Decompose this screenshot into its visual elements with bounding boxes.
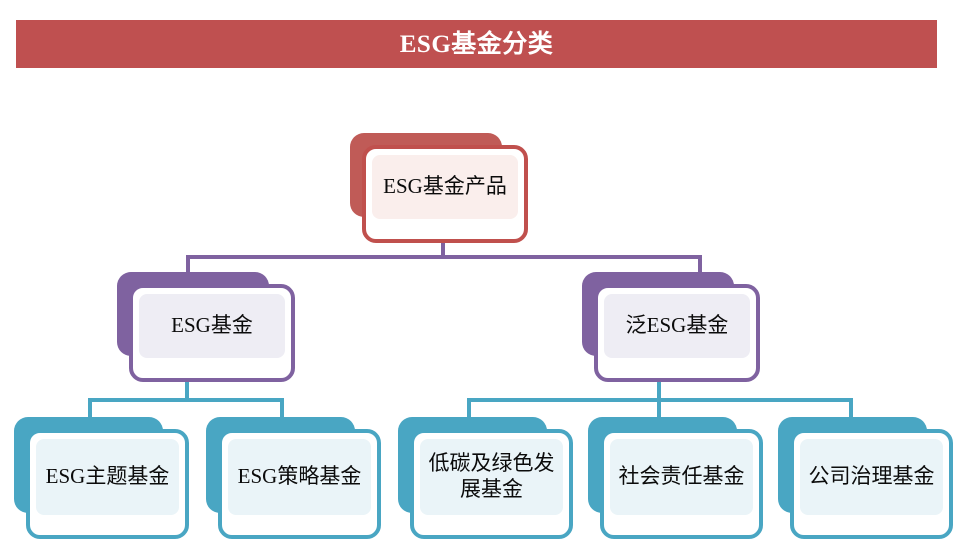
node-esg-fund[interactable]: ESG基金 bbox=[117, 272, 295, 382]
node-card: ESG基金产品 bbox=[362, 145, 528, 243]
node-label: ESG基金产品 bbox=[377, 174, 513, 200]
node-label: ESG基金 bbox=[165, 313, 259, 339]
node-broad-esg-fund[interactable]: 泛ESG基金 bbox=[582, 272, 760, 382]
node-label: 低碳及绿色发展基金 bbox=[420, 451, 563, 502]
page-title-banner: ESG基金分类 bbox=[16, 20, 937, 68]
node-label: 泛ESG基金 bbox=[620, 313, 735, 339]
page-title: ESG基金分类 bbox=[400, 32, 554, 57]
node-inner: ESG基金产品 bbox=[372, 155, 518, 219]
node-card: 公司治理基金 bbox=[790, 429, 953, 539]
node-card: 低碳及绿色发展基金 bbox=[410, 429, 573, 539]
connector-left-branch-bar bbox=[88, 398, 284, 402]
node-low-carbon-green-development-fund[interactable]: 低碳及绿色发展基金 bbox=[398, 417, 573, 539]
node-card: 社会责任基金 bbox=[600, 429, 763, 539]
node-inner: 公司治理基金 bbox=[800, 439, 943, 515]
node-social-responsibility-fund[interactable]: 社会责任基金 bbox=[588, 417, 763, 539]
node-card: ESG基金 bbox=[129, 284, 295, 382]
node-inner: 低碳及绿色发展基金 bbox=[420, 439, 563, 515]
node-inner: 社会责任基金 bbox=[610, 439, 753, 515]
node-label: ESG主题基金 bbox=[40, 464, 176, 490]
connector-level2-bar bbox=[186, 255, 702, 259]
node-inner: ESG主题基金 bbox=[36, 439, 179, 515]
node-inner: ESG策略基金 bbox=[228, 439, 371, 515]
node-card: 泛ESG基金 bbox=[594, 284, 760, 382]
node-label: ESG策略基金 bbox=[232, 464, 368, 490]
node-label: 公司治理基金 bbox=[803, 464, 941, 490]
node-inner: 泛ESG基金 bbox=[604, 294, 750, 358]
node-card: ESG主题基金 bbox=[26, 429, 189, 539]
node-card: ESG策略基金 bbox=[218, 429, 381, 539]
node-esg-theme-fund[interactable]: ESG主题基金 bbox=[14, 417, 189, 539]
node-label: 社会责任基金 bbox=[613, 464, 751, 490]
node-esg-strategy-fund[interactable]: ESG策略基金 bbox=[206, 417, 381, 539]
diagram-canvas: ESG基金分类 ESG基金产品 ESG基金 bbox=[0, 0, 953, 548]
node-esg-fund-products[interactable]: ESG基金产品 bbox=[350, 133, 528, 243]
node-corporate-governance-fund[interactable]: 公司治理基金 bbox=[778, 417, 953, 539]
node-inner: ESG基金 bbox=[139, 294, 285, 358]
